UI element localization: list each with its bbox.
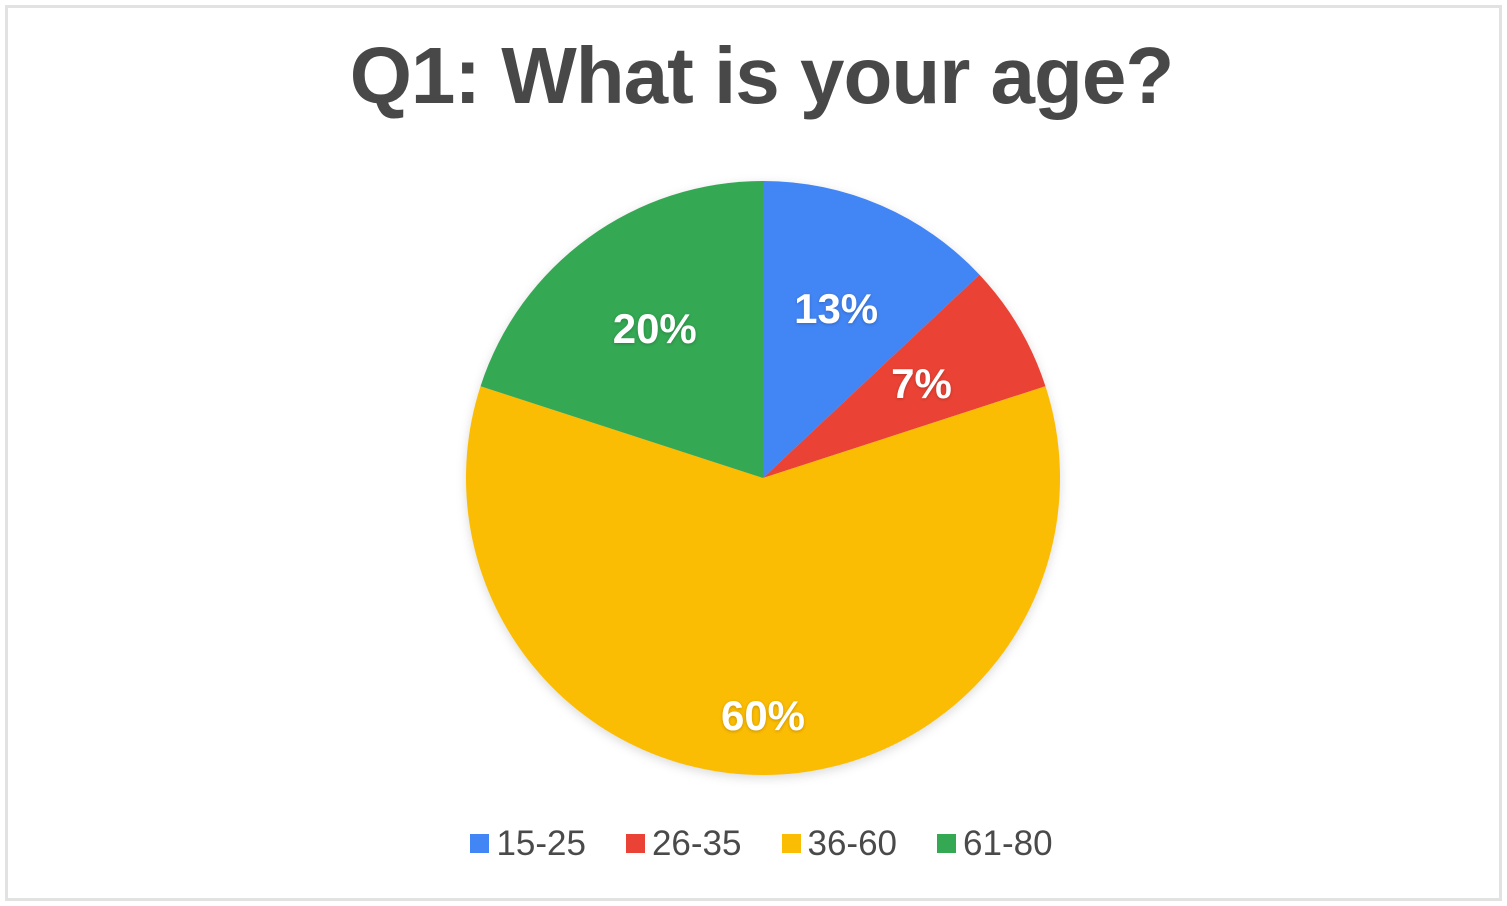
legend-label-61-80: 61-80 bbox=[963, 826, 1053, 861]
legend-label-26-35: 26-35 bbox=[652, 826, 742, 861]
legend-item-36-60[interactable]: 36-60 bbox=[782, 826, 898, 861]
pie-slice-group bbox=[466, 181, 1060, 775]
legend-label-36-60: 36-60 bbox=[808, 826, 898, 861]
slide-frame: Q1: What is your age? 13%7%60%20% 15-252… bbox=[5, 5, 1502, 901]
legend-swatch-26-35 bbox=[626, 834, 645, 853]
legend-item-26-35[interactable]: 26-35 bbox=[626, 826, 742, 861]
legend-label-15-25: 15-25 bbox=[496, 826, 586, 861]
pie-chart-svg bbox=[465, 180, 1061, 776]
legend-item-15-25[interactable]: 15-25 bbox=[470, 826, 586, 861]
legend-swatch-61-80 bbox=[937, 834, 956, 853]
page-title: Q1: What is your age? bbox=[8, 36, 1507, 116]
chart-legend: 15-2526-3536-6061-80 bbox=[8, 826, 1507, 861]
chart-canvas: Q1: What is your age? 13%7%60%20% 15-252… bbox=[0, 0, 1507, 906]
legend-item-61-80[interactable]: 61-80 bbox=[937, 826, 1053, 861]
legend-swatch-15-25 bbox=[470, 834, 489, 853]
legend-swatch-36-60 bbox=[782, 834, 801, 853]
pie-chart: 13%7%60%20% bbox=[465, 180, 1061, 776]
